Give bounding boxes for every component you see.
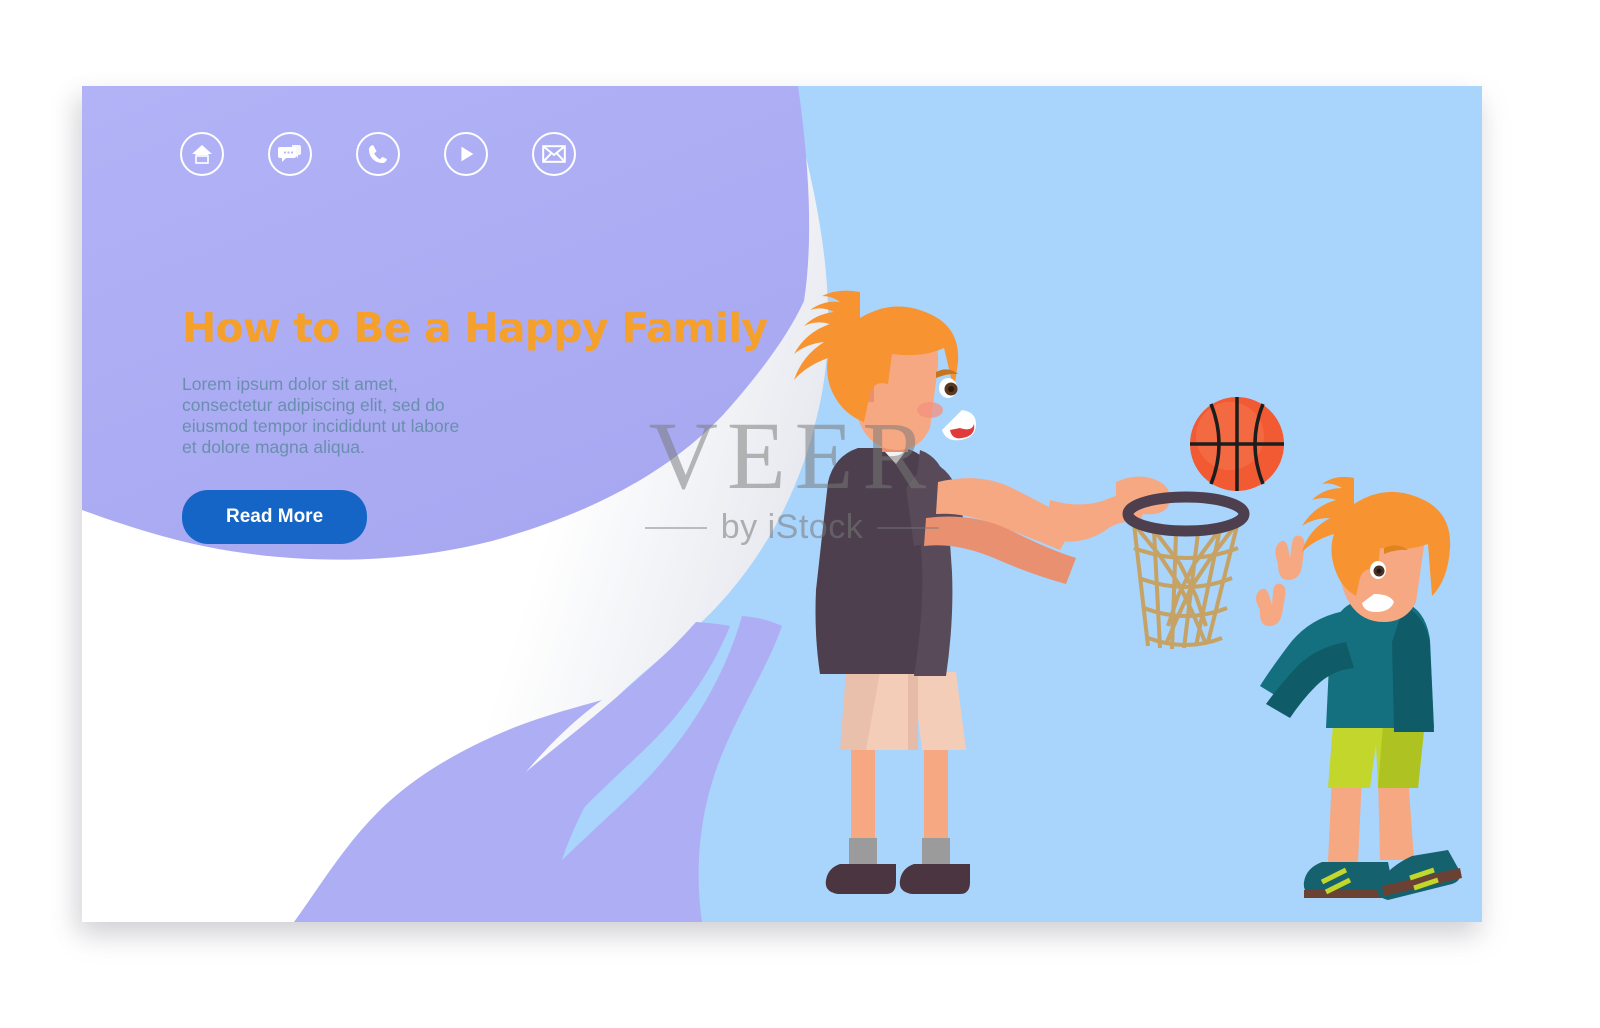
nav-icon-bar <box>180 132 576 176</box>
hero-text-block: How to Be a Happy Family Lorem ipsum dol… <box>182 304 782 544</box>
page-root: VEER by iStock <box>0 0 1600 1028</box>
read-more-button[interactable]: Read More <box>182 490 367 544</box>
nav-item-phone[interactable] <box>356 132 400 176</box>
play-icon <box>455 143 477 165</box>
nav-item-mail[interactable] <box>532 132 576 176</box>
home-icon <box>190 142 214 166</box>
nav-item-play[interactable] <box>444 132 488 176</box>
nav-item-chat[interactable] <box>268 132 312 176</box>
mail-icon <box>542 144 566 164</box>
nav-item-home[interactable] <box>180 132 224 176</box>
page-title: How to Be a Happy Family <box>182 304 782 352</box>
chat-icon <box>278 143 302 165</box>
phone-icon <box>367 143 389 165</box>
landing-page-card: VEER by iStock <box>82 86 1482 922</box>
hero-body-text: Lorem ipsum dolor sit amet, consectetur … <box>182 374 472 458</box>
